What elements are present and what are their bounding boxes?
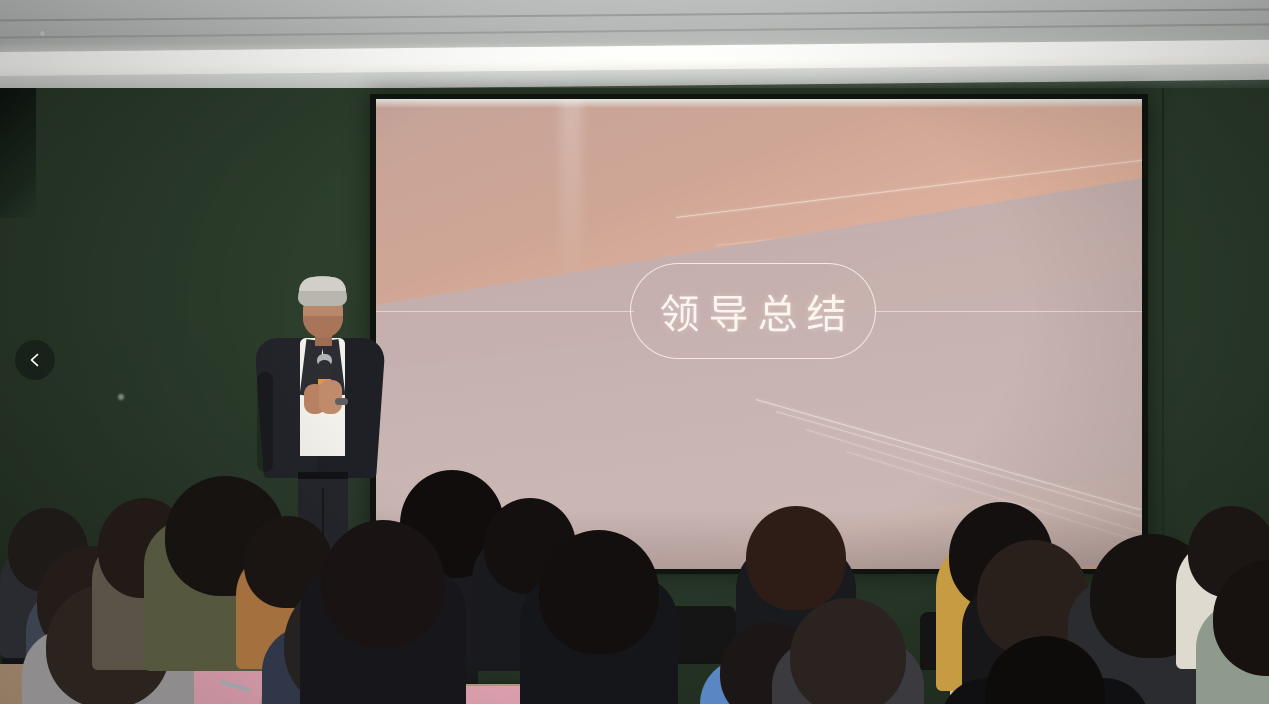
chevron-left-icon [27, 352, 43, 368]
ceiling-fixture-screw [40, 31, 45, 36]
presenter-arm-shadow [257, 372, 273, 472]
wall-shadow [0, 88, 36, 218]
presenter-hand-right [319, 380, 342, 414]
slide-rule-right [876, 311, 1142, 312]
presenter-wristwatch [335, 398, 348, 405]
slide-title-pill: 领导总结 [630, 263, 876, 359]
attendee-black-blazer [300, 520, 466, 704]
lens-flare-dot [118, 394, 124, 400]
attendee-head [746, 506, 846, 610]
presenter-face-shadow [303, 316, 343, 338]
attendee-center-dark [520, 530, 678, 704]
conference-photo-viewer: 领导总结 伟 [0, 0, 1269, 704]
prev-image-button[interactable] [15, 340, 55, 380]
attendee-head [321, 520, 445, 648]
attendee-far-right-sage [1196, 560, 1269, 704]
screen-top-edge [376, 99, 1142, 108]
attendee-grey-right [772, 598, 924, 704]
attendee-bottom-right-dark [940, 636, 1150, 704]
attendee-head [985, 636, 1105, 704]
attendee-head [790, 598, 906, 704]
slide-title: 领导总结 [651, 282, 856, 340]
slide-rule-left [376, 311, 634, 312]
presenter-hair-highlight [299, 277, 346, 291]
attendee-head [539, 530, 659, 654]
